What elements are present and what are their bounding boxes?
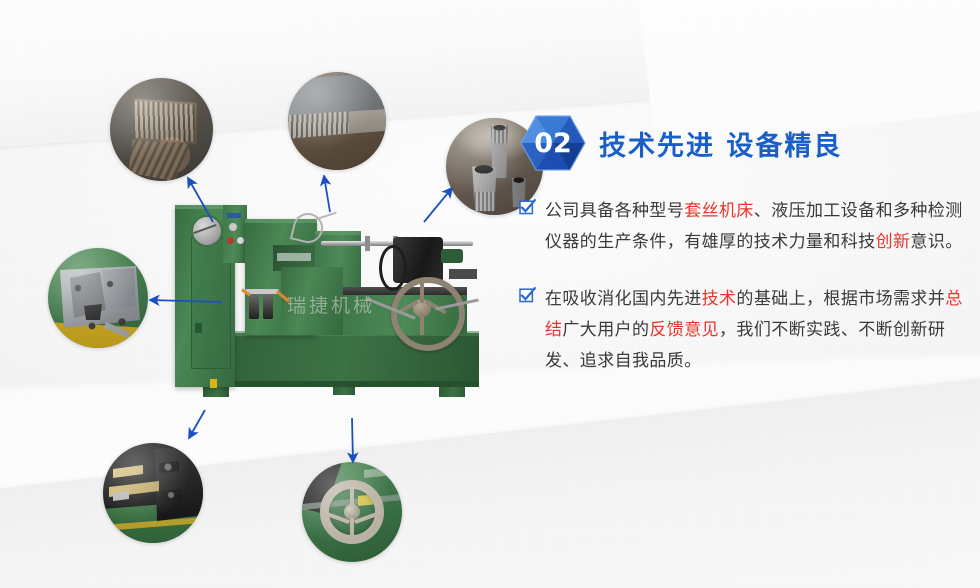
- section-badge: 02: [519, 112, 587, 174]
- bullet-item: 在吸收消化国内先进技术的基础上，根据市场需求并总结广大用户的反馈意见，我们不断实…: [519, 284, 965, 377]
- detail-photo-threaded-bar: [288, 72, 386, 170]
- arrow-to-bottom-center-detail: [352, 418, 353, 462]
- detail-photo-hydraulic-fittings: [103, 443, 203, 543]
- highlighted-text: 反馈意见: [649, 320, 719, 340]
- detail-photo-handwheel: [302, 462, 402, 562]
- body-text: 在吸收消化国内先进: [545, 289, 702, 309]
- machine-watermark: 瑞捷机械: [287, 291, 375, 318]
- arrow-to-bottom-left-detail: [189, 410, 205, 438]
- bullet-text-1: 公司具备各种型号套丝机床、液压加工设备和多种检测仪器的生产条件，有雄厚的技术力量…: [545, 196, 965, 258]
- checkbox-checked-icon: [519, 199, 536, 216]
- highlighted-text: 创新: [876, 232, 911, 252]
- body-text: 的基础上，根据市场需求并: [736, 289, 945, 309]
- bullet-list: 公司具备各种型号套丝机床、液压加工设备和多种检测仪器的生产条件，有雄厚的技术力量…: [519, 196, 965, 377]
- detail-photo-threaded-rod: [110, 78, 213, 181]
- body-text: 公司具备各种型号: [545, 201, 684, 221]
- hexagon-badge-icon: 02: [519, 112, 587, 174]
- checkbox-checked-icon: [519, 287, 536, 304]
- machine-photo: 瑞捷机械: [165, 195, 495, 410]
- highlighted-text: 套丝机床: [684, 201, 754, 221]
- body-text: 意识。: [910, 232, 962, 252]
- badge-number: 02: [534, 128, 572, 159]
- body-text: 广大用户的: [562, 320, 649, 340]
- detail-photo-die-head: [48, 248, 148, 348]
- bullet-item: 公司具备各种型号套丝机床、液压加工设备和多种检测仪器的生产条件，有雄厚的技术力量…: [519, 196, 965, 258]
- highlighted-text: 技术: [702, 289, 737, 309]
- section-title: 技术先进 设备精良: [599, 124, 842, 163]
- content-panel: 02 技术先进 设备精良 公司具备各种型号套丝机床、液压加工设备和多种检测仪器的…: [519, 112, 965, 403]
- bullet-text-2: 在吸收消化国内先进技术的基础上，根据市场需求并总结广大用户的反馈意见，我们不断实…: [545, 284, 965, 377]
- section-header: 02 技术先进 设备精良: [519, 112, 965, 174]
- promo-banner: 瑞捷机械: [0, 0, 980, 588]
